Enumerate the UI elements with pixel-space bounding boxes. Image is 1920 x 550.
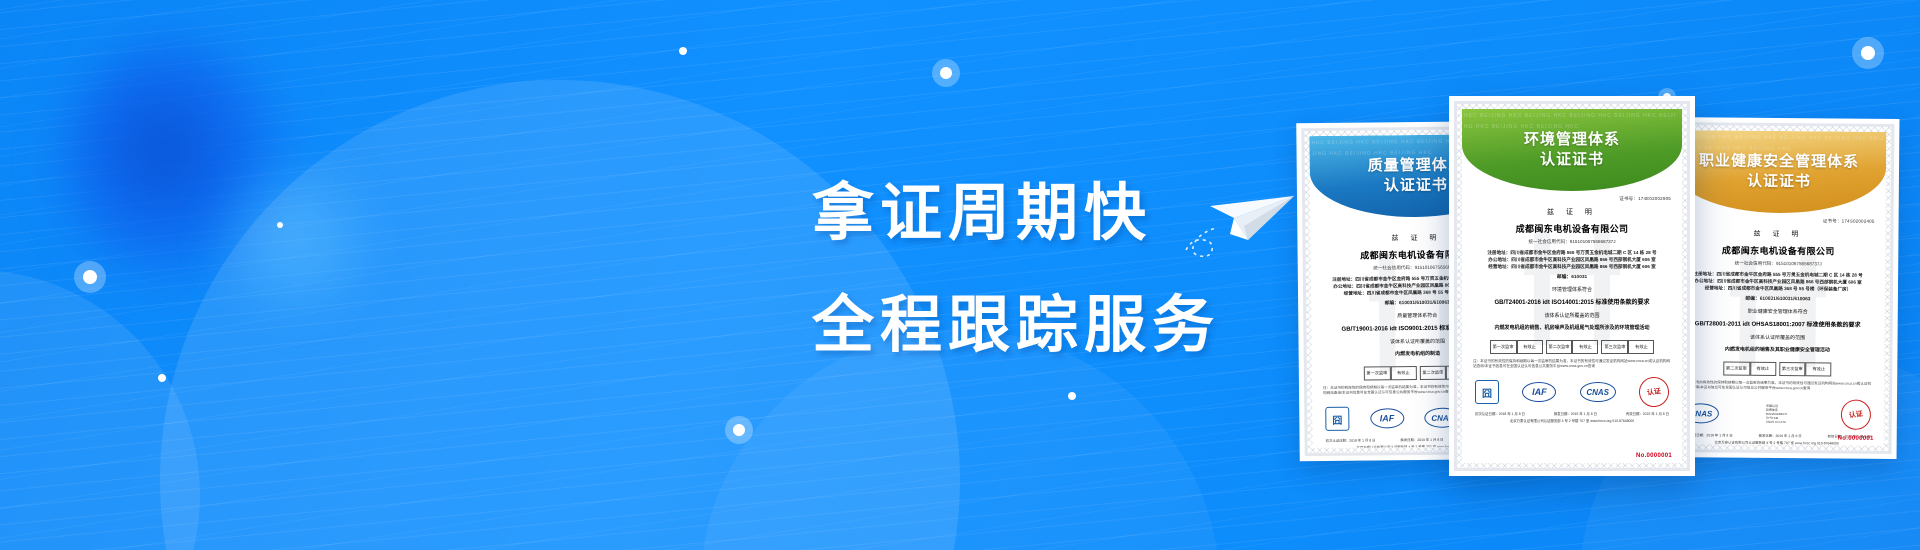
decorative-dot-6 [733, 424, 745, 436]
certificate-audit-value: 有效止 [1390, 366, 1416, 380]
certificate-header: HKC BEIJING HKC BEIJING HKC BEIJING HKC … [1672, 130, 1887, 214]
certificate-title-line-1: 职业健康安全管理体系 [1699, 151, 1859, 172]
certificate-audit-value: 有效止 [1572, 340, 1598, 354]
headline-line-2: 全程跟踪服务 [812, 270, 1220, 382]
certificate-address-line: 经营地址：四川省成都市金牛区高科技产业园区凤凰路 866 号西部钢机大厦 606… [1473, 263, 1671, 270]
certificate-logo-row: CNAS中国认证管理体系MANAGEMENT SYSTEMCNAS C174-M… [1681, 397, 1873, 433]
certificate-serial: No.0000001 [1636, 453, 1672, 459]
certificate-date-item: 初次认证日期：2018 年 1 月 8 日 [1326, 438, 1376, 444]
certificate-logo-row: 囧IAFCNAS认证 [1473, 375, 1671, 409]
certificate-title-line-2: 认证证书 [1540, 150, 1604, 170]
certificate-audit-value: 有效止 [1806, 362, 1832, 376]
certificate-card-center[interactable]: HKC BEIJING HKC BEIJING HKC BEIJING HKC … [1449, 96, 1695, 476]
decorative-dot-3 [158, 374, 166, 382]
certificate-company-name: 成都闽东电机设备有限公司 [1682, 243, 1874, 258]
certificate-serial: No.0000001 [1838, 436, 1874, 442]
certificate-addresses: 注册地址：四川省成都市金牛区金府路 555 号万贯五金机电城二期 C 区 14 … [1473, 249, 1671, 270]
paper-plane-icon [1182, 176, 1302, 262]
decorative-dot-2 [277, 222, 283, 228]
certificate-scope: 内燃发电机组的销售、机房噪声及机组尾气处理所涉及的环境管理活动 [1473, 324, 1671, 332]
certificate-cnas-text-line: MANAGEMENT SYSTEM [1766, 412, 1794, 420]
certificate-title-line-2: 认证证书 [1747, 172, 1811, 193]
certificate-zip: 邮编：610031 [1473, 273, 1671, 280]
headline-block: 拿证周期快 全程跟踪服务 [812, 158, 1220, 382]
certificate-attest-label: 兹 证 明 [1682, 228, 1874, 240]
certificate-audit-cell: 第二次监审有效止 [1546, 340, 1599, 354]
certificate-body: 证书号：174E02002905 兹 证 明 成都闽东电机设备有限公司 统一社会… [1462, 191, 1682, 423]
certificate-audit-cell: 第三次监审有效止 [1779, 362, 1832, 376]
certificate-iaf-logo: IAF [1522, 382, 1556, 402]
certificate-audit-label: 第一次监审 [1363, 366, 1390, 380]
certificate-cnab-logo: 囧 [1325, 407, 1349, 431]
certificate-system-label: 职业健康安全管理体系符合 [1682, 307, 1874, 316]
certificate-face: HKC BEIJING HKC BEIJING HKC BEIJING HKC … [1670, 130, 1887, 446]
certificate-attest-label: 兹 证 明 [1473, 207, 1671, 217]
certificate-cnas-logo: CNAS [1580, 382, 1616, 402]
certificate-audit-label: 第二次监审 [1723, 362, 1750, 376]
certificate-scope-label: 该体系认证所覆盖的范围 [1473, 312, 1671, 319]
headline-line-1: 拿证周期快 [812, 158, 1220, 270]
certificate-company-name: 成都闽东电机设备有限公司 [1473, 222, 1671, 235]
certificate-audit-label: 第三次监审 [1601, 340, 1628, 354]
certificate-credit-code: 统一社会信用代码：91510106756568737J [1473, 239, 1671, 245]
certificate-standard: GB/T28001-2011 idt OHSAS18001:2007 标准使用条… [1682, 318, 1874, 329]
certificate-red-seal-stamp: 认证 [1839, 398, 1873, 432]
certificate-date-item: 换发日期：2019 年 1 月 8 日 [1759, 433, 1802, 438]
certificate-system-label: 环境管理体系符合 [1473, 286, 1671, 293]
certificate-audit-cell: 第二次监审有效止 [1723, 362, 1776, 376]
decorative-dot-5 [940, 67, 952, 79]
certificate-number: 证书号：174E02002905 [1473, 196, 1671, 202]
decorative-dot-9 [1861, 46, 1875, 60]
certificate-title-line-1: 环境管理体系 [1524, 130, 1620, 150]
certificate-cnab-logo: 囧 [1475, 380, 1499, 404]
certificate-audit-cell: 第一次监审有效止 [1490, 340, 1543, 354]
certificate-header: HKC BEIJING HKC BEIJING HKC BEIJING HKC … [1462, 109, 1682, 191]
certificate-audit-label: 第一次监审 [1490, 340, 1517, 354]
certificate-audit-label: 第三次监审 [1779, 362, 1806, 376]
certificate-audit-label: 第二次监审 [1546, 340, 1573, 354]
certificate-dates: 初次认证日期：2018 年 1 月 8 日换发日期：2019 年 1 月 8 日… [1473, 411, 1671, 416]
decorative-dot-4 [679, 47, 687, 55]
certificate-audit-cell: 第三次监审有效止 [1601, 340, 1654, 354]
hero-banner: 拿证周期快 全程跟踪服务 HKC BEIJING HKC BEIJING HKC… [0, 0, 1920, 550]
certificate-addresses: 注册地址：四川省成都市金牛区金府路 555 号万贯五金机电城二期 C 区 14 … [1682, 270, 1874, 293]
certificate-audit-grid: 第二次监审有效止第三次监审有效止 [1681, 361, 1873, 377]
certificate-fine-print: 注：本证书的有效性的保持和续期以每一次监审的结果为准，本证书的有效性可通过发证机… [1681, 380, 1873, 392]
certificate-cnas-text: 中国认证管理体系MANAGEMENT SYSTEMCNAS C174-M [1766, 404, 1794, 424]
certificate-date-item: 有效日期：2022 年 1 月 8 日 [1626, 411, 1669, 416]
certificate-credit-code: 统一社会信用代码：91510106756568737J [1682, 260, 1874, 268]
certificate-fine-print: 注：本证书的有效性的保持和续期以每一次监审的结果为准，本证书的有效性可通过发证机… [1473, 359, 1671, 369]
certificate-audit-value: 有效止 [1628, 340, 1654, 354]
certificate-group: HKC BEIJING HKC BEIJING HKC BEIJING HKC … [1298, 96, 1898, 476]
certificate-audit-grid: 第一次监审有效止第二次监审有效止第三次监审有效止 [1473, 340, 1671, 354]
certificate-date-item: 初次认证日期：2018 年 1 月 8 日 [1475, 411, 1525, 416]
certificate-red-seal-stamp: 认证 [1637, 375, 1671, 409]
certificate-body: 证书号：174S02002405 兹 证 明 成都闽东电机设备有限公司 统一社会… [1670, 212, 1886, 446]
certificate-audit-value: 有效止 [1750, 362, 1776, 376]
certificate-date-item: 换发日期：2019 年 1 月 8 日 [1400, 437, 1443, 442]
decorative-dot-1 [83, 270, 97, 284]
certificate-scope: 内燃发电机组的销售及其职业健康安全管理活动 [1681, 345, 1873, 355]
certificate-audit-value: 有效止 [1517, 340, 1543, 354]
certificate-standard: GB/T24001-2016 idt ISO14001:2015 标准使用条款的… [1473, 297, 1671, 306]
certificate-scope-label: 该体系认证所覆盖的范围 [1682, 333, 1874, 342]
certificate-face: HKC BEIJING HKC BEIJING HKC BEIJING HKC … [1462, 109, 1682, 463]
decorative-dot-7 [1068, 392, 1076, 400]
certificate-address-line: 经营地址：四川省成都市金牛区凤凰路 368 号 55 号楼（环保装备厂房） [1682, 284, 1874, 293]
certificate-iaf-logo: IAF [1370, 409, 1404, 429]
certificate-issuer: 北京万泰认证有限公司认证服务部 4 号 2 号楼 707 室 www.hncc.… [1473, 418, 1671, 423]
certificate-cnas-text-line: CNAS C174-M [1766, 420, 1794, 424]
certificate-audit-cell: 第一次监审有效止 [1363, 366, 1416, 381]
certificate-title-line-2: 认证证书 [1384, 176, 1448, 197]
certificate-address-line: 注册地址：四川省成都市金牛区金府路 555 号万贯五金机电城二期 C 区 14 … [1473, 249, 1671, 256]
certificate-audit-label: 第二次监审 [1419, 366, 1446, 380]
certificate-date-item: 换发日期：2019 年 1 月 8 日 [1554, 411, 1597, 416]
certificate-address-line: 办公地址：四川省成都市金牛区高科技产业园区凤凰路 866 号西部钢机大厦 606… [1473, 256, 1671, 263]
certificate-number: 证书号：174S02002405 [1683, 217, 1875, 225]
certificate-zip: 邮编：610031/610031/610063 [1682, 294, 1874, 303]
